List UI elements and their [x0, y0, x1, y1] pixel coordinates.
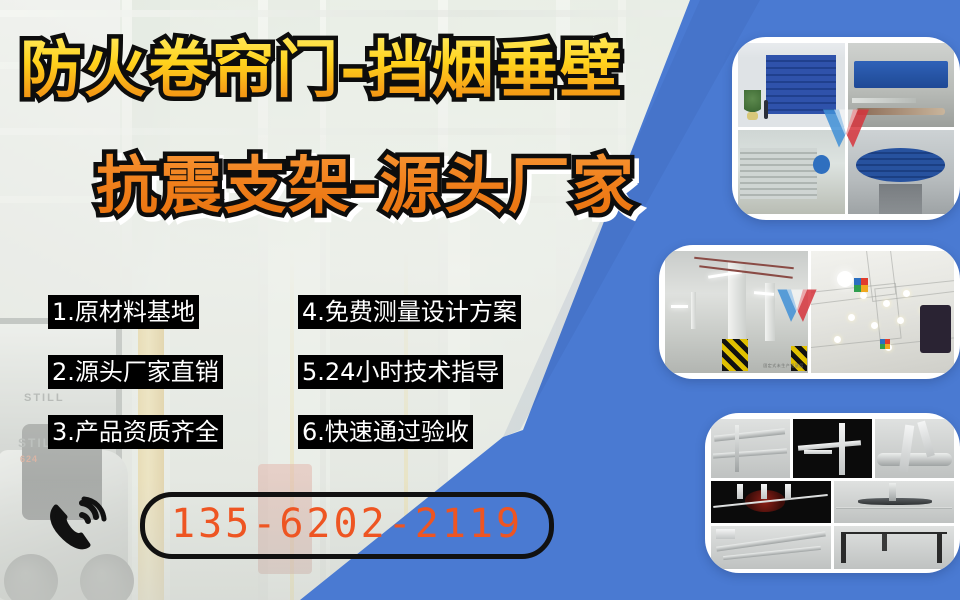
feature-row: 1.原材料基地 4.免费测量设计方案	[48, 296, 558, 328]
feature-item-4: 4.免费测量设计方案	[298, 295, 521, 329]
photo-bracket-red-fan	[711, 481, 831, 523]
collage-project-sites[interactable]: 固定式未生产铝基层	[659, 245, 960, 379]
headline-primary-fill: 防火卷帘门-挡烟垂壁	[20, 34, 624, 106]
photo-parking-garage: 固定式未生产铝基层	[665, 251, 808, 373]
photo-caption-watermark: 固定式未生产铝基层	[763, 363, 804, 369]
photo-steel-shutter-corridor	[738, 130, 845, 214]
collage-seismic-brackets[interactable]	[705, 413, 960, 573]
contact-phone-block[interactable]: 135-6202-2119	[44, 492, 554, 559]
photo-bracket-pipe-rail	[711, 419, 790, 478]
poster-canvas: STILL STILL 624 防火卷帘门-挡烟垂壁 防火卷帘门-挡烟垂壁 抗震…	[0, 0, 960, 600]
photo-bracket-frame-room	[834, 526, 954, 568]
headline-primary: 防火卷帘门-挡烟垂壁 防火卷帘门-挡烟垂壁	[20, 34, 624, 106]
photo-bracket-ceiling-fan	[834, 481, 954, 523]
phone-number-pill[interactable]: 135-6202-2119	[140, 492, 554, 559]
feature-item-5: 5.24小时技术指导	[298, 355, 503, 389]
feature-item-2: 2.源头厂家直销	[48, 355, 223, 389]
headline-secondary: 抗震支架-源头厂家 抗震支架-源头厂家 抗震支架-源头厂家	[96, 150, 636, 222]
photo-blue-rolling-shutter-door	[738, 43, 845, 127]
feature-item-1: 1.原材料基地	[48, 295, 199, 329]
headline-secondary-fill: 抗震支架-源头厂家	[96, 150, 636, 222]
feature-item-3: 3.产品资质齐全	[48, 415, 223, 449]
photo-bracket-closeup	[793, 419, 872, 478]
phone-ringing-icon	[44, 493, 116, 559]
feature-item-6: 6.快速通过验收	[298, 415, 473, 449]
photo-blue-coiled-roll	[848, 130, 955, 214]
photo-bracket-clamp-pipes	[875, 419, 954, 478]
phone-number: 135-6202-2119	[171, 501, 523, 547]
photo-ceiling-downlights	[811, 251, 954, 373]
feature-row: 2.源头厂家直销 5.24小时技术指导	[48, 356, 558, 388]
feature-row: 3.产品资质齐全 6.快速通过验收	[48, 416, 558, 448]
feature-list: 1.原材料基地 4.免费测量设计方案 2.源头厂家直销 5.24小时技术指导 3…	[48, 296, 558, 476]
photo-bracket-ceiling-rails	[711, 526, 831, 568]
collage-fire-shutter-doors[interactable]	[732, 37, 960, 220]
photo-roll-forming-machine	[848, 43, 955, 127]
